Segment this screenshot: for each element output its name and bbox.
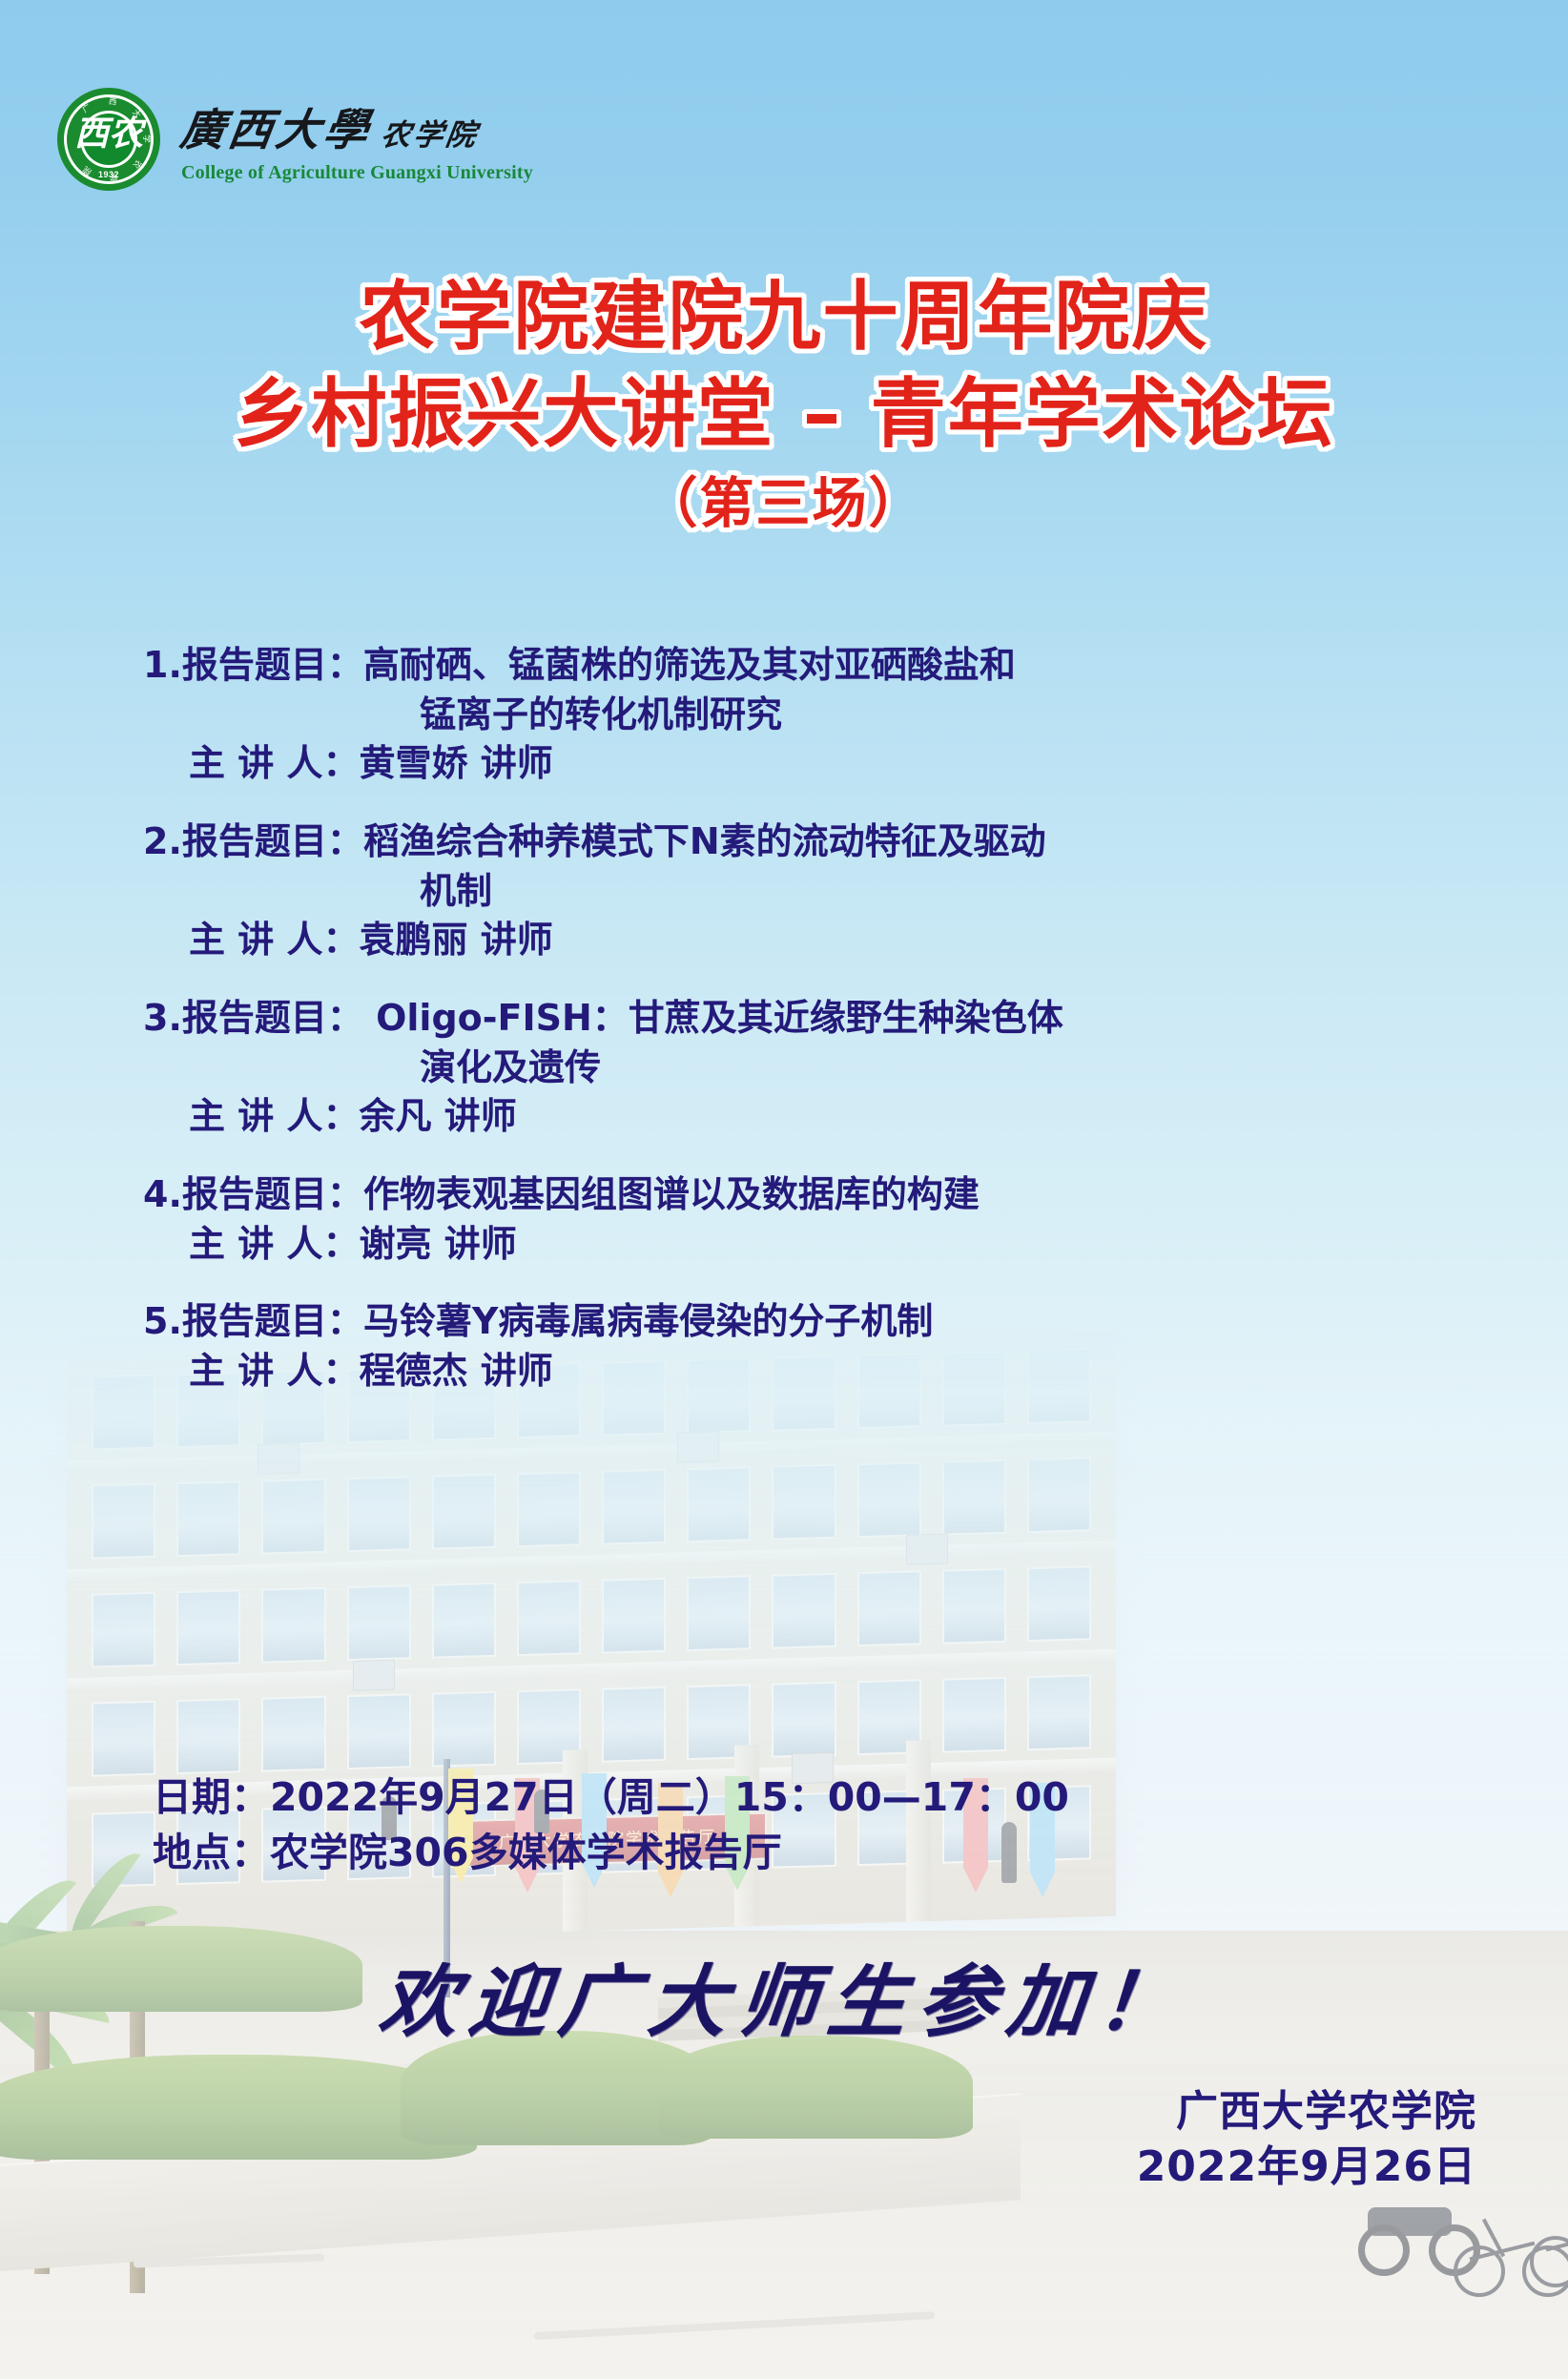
- talk-title-line: 2.报告题目：稻渔综合种养模式下N素的流动特征及驱动: [0, 817, 1568, 867]
- program-item: 5.报告题目：马铃薯Y病毒属病毒侵染的分子机制 主 讲 人：程德杰 讲师: [0, 1297, 1568, 1396]
- university-seal-icon: 西农 1932 广西大学农学院: [57, 88, 160, 191]
- wordmark-main: 廣西大學: [176, 95, 376, 158]
- brand-wordmark: 廣西大學 农学院 College of Agriculture Guangxi …: [181, 95, 533, 184]
- wordmark-sub: 农学院: [379, 111, 482, 154]
- program-item: 3.报告题目： Oligo-FISH：甘蔗及其近缘野生种染色体 演化及遗传 主 …: [0, 994, 1568, 1142]
- poster-root: 广西大学农学院学术报告厅: [0, 0, 1568, 2379]
- welcome-message: 欢迎广大师生参加！: [0, 1938, 1568, 2052]
- poster-title-block: 农学院建院九十周年院庆 乡村振兴大讲堂 – 青年学术论坛 （第三场）: [0, 275, 1568, 535]
- talk-title-line: 1.报告题目：高耐硒、锰菌株的筛选及其对亚硒酸盐和: [0, 641, 1568, 691]
- talk-title-line: 5.报告题目：马铃薯Y病毒属病毒侵染的分子机制: [0, 1297, 1568, 1347]
- program-list: 1.报告题目：高耐硒、锰菌株的筛选及其对亚硒酸盐和 锰离子的转化机制研究 主 讲…: [0, 641, 1568, 1425]
- poster-content: 西农 1932 广西大学农学院 廣西大學 农学院 College of Agri…: [0, 0, 1568, 2379]
- program-item: 1.报告题目：高耐硒、锰菌株的筛选及其对亚硒酸盐和 锰离子的转化机制研究 主 讲…: [0, 641, 1568, 789]
- title-line-2: 乡村振兴大讲堂 – 青年学术论坛: [0, 372, 1568, 456]
- event-date-line: 日期：2022年9月27日（周二）15：00—17：00: [153, 1769, 1069, 1825]
- signature-block: 广西大学农学院 2022年9月26日: [1137, 2084, 1476, 2195]
- event-venue-line: 地点：农学院306多媒体学术报告厅: [153, 1825, 1069, 1880]
- talk-title-line: 3.报告题目： Oligo-FISH：甘蔗及其近缘野生种染色体: [0, 994, 1568, 1044]
- title-line-3: （第三场）: [0, 474, 1568, 535]
- talk-title-continuation: 演化及遗传: [0, 1044, 1568, 1093]
- title-line-1: 农学院建院九十周年院庆: [0, 275, 1568, 359]
- brand-header: 西农 1932 广西大学农学院 廣西大學 农学院 College of Agri…: [57, 88, 533, 191]
- wordmark-english: College of Agriculture Guangxi Universit…: [181, 162, 533, 184]
- talk-speaker-line: 主 讲 人：程德杰 讲师: [0, 1347, 1568, 1396]
- talk-title-line: 4.报告题目：作物表观基因组图谱以及数据库的构建: [0, 1170, 1568, 1220]
- program-item: 2.报告题目：稻渔综合种养模式下N素的流动特征及驱动 机制 主 讲 人：袁鹏丽 …: [0, 817, 1568, 965]
- talk-title-continuation: 锰离子的转化机制研究: [0, 691, 1568, 740]
- talk-title-continuation: 机制: [0, 867, 1568, 917]
- talk-speaker-line: 主 讲 人：余凡 讲师: [0, 1092, 1568, 1142]
- event-details: 日期：2022年9月27日（周二）15：00—17：00 地点：农学院306多媒…: [153, 1769, 1069, 1880]
- signature-organization: 广西大学农学院: [1137, 2084, 1476, 2140]
- seal-arc-text: 广西大学农学院: [57, 88, 160, 191]
- signature-date: 2022年9月26日: [1137, 2140, 1476, 2195]
- talk-speaker-line: 主 讲 人：谢亮 讲师: [0, 1220, 1568, 1270]
- talk-speaker-line: 主 讲 人：黄雪娇 讲师: [0, 739, 1568, 789]
- program-item: 4.报告题目：作物表观基因组图谱以及数据库的构建 主 讲 人：谢亮 讲师: [0, 1170, 1568, 1269]
- talk-speaker-line: 主 讲 人：袁鹏丽 讲师: [0, 916, 1568, 965]
